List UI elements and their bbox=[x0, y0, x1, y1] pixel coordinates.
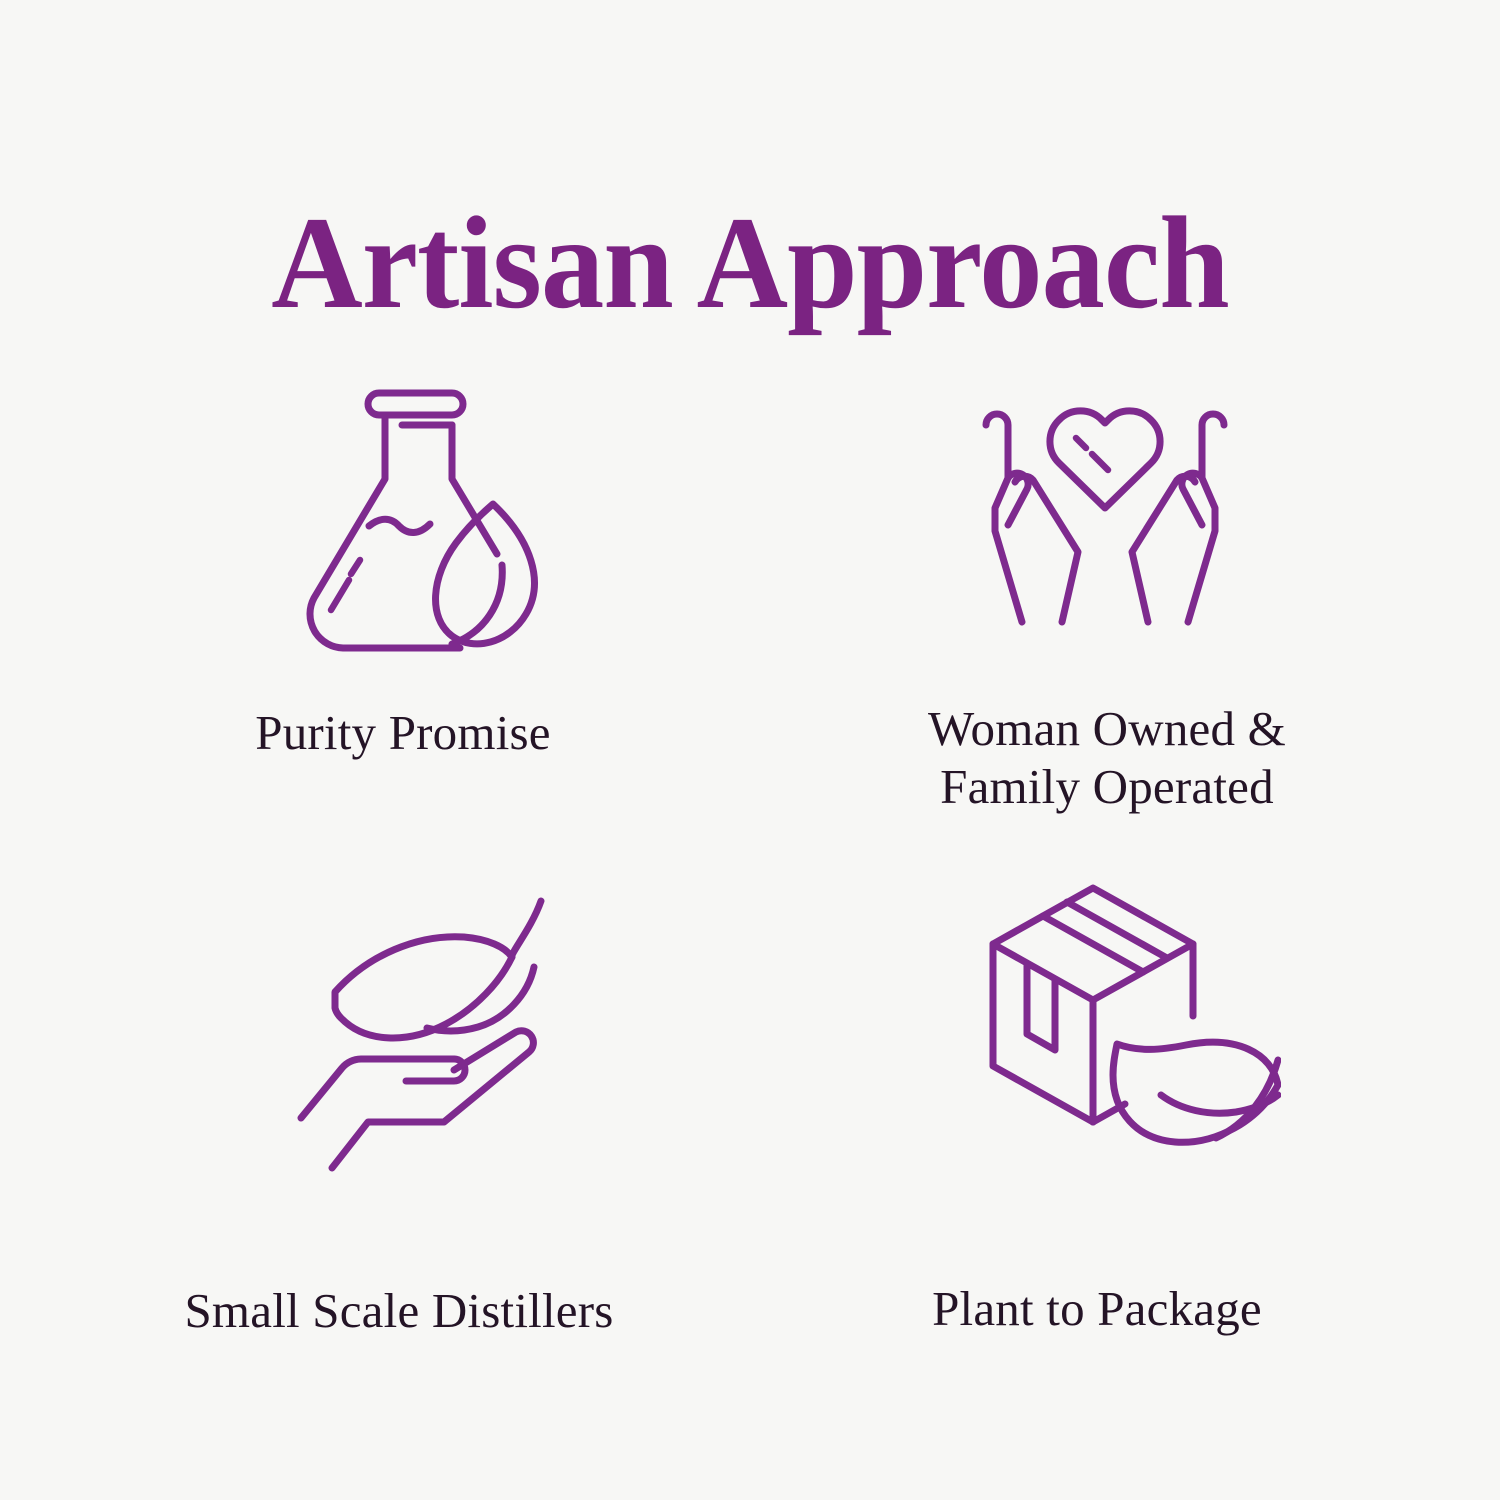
box-leaf-icon bbox=[981, 874, 1281, 1174]
feature-label: Small Scale Distillers bbox=[184, 1282, 613, 1340]
page-title: Artisan Approach bbox=[30, 192, 1470, 335]
feature-label: Plant to Package bbox=[932, 1280, 1262, 1338]
feature-item-woman-owned: Woman Owned & Family Operated bbox=[750, 360, 1440, 870]
leaf-in-hand-icon bbox=[291, 878, 591, 1178]
feature-item-plant-to-package: Plant to Package bbox=[750, 870, 1440, 1380]
artisan-approach-panel: Artisan Approach bbox=[0, 0, 1500, 1500]
feature-grid: Purity Promise bbox=[60, 360, 1440, 1380]
feature-label: Woman Owned & Family Operated bbox=[928, 700, 1286, 816]
feature-item-small-scale-distillers: Small Scale Distillers bbox=[60, 870, 750, 1380]
feature-item-purity-promise: Purity Promise bbox=[60, 360, 750, 870]
hands-heart-icon bbox=[955, 378, 1255, 678]
flask-leaf-icon bbox=[297, 374, 597, 674]
feature-label: Purity Promise bbox=[255, 704, 550, 762]
